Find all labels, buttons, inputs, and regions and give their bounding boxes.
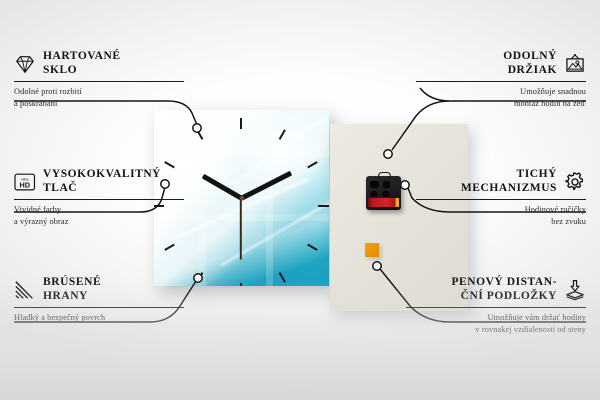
feature-glass-title-1: HARTOVANÉ <box>43 50 121 64</box>
feature-foam-title-1: PENOVÝ DISTAN- <box>451 276 557 290</box>
foam-spacer-icon <box>564 279 586 301</box>
feature-foam-desc-1: Umožňuje vám držať hodiny <box>406 312 586 324</box>
product-infographic: HARTOVANÉ SKLO Odolné proti rozbití a po… <box>0 0 600 400</box>
feature-edges-desc-1: Hladký a bezpečný povrch <box>14 312 184 324</box>
diamond-icon <box>14 53 36 75</box>
feature-holder-desc-2: montáž hodin na zeď <box>416 98 586 110</box>
feature-edges-title-2: HRANY <box>43 290 101 304</box>
feature-foam-divider <box>406 307 586 308</box>
feature-holder-desc: Umožňuje snadnou montáž hodin na zeď <box>416 86 586 110</box>
foam-spacer-pad <box>365 243 379 257</box>
clock-second-hand <box>240 198 242 260</box>
feature-print-title-1: VYSOKOKVALITNÝ <box>43 168 161 182</box>
feature-holder-desc-1: Umožňuje snadnou <box>416 86 586 98</box>
feature-glass-title-2: SKLO <box>43 64 121 78</box>
clock-tick <box>240 118 242 129</box>
hanging-picture-icon <box>564 53 586 75</box>
feature-edges-divider <box>14 307 184 308</box>
feature-mechanism-desc-1: Hodinové ručičky <box>416 204 586 216</box>
feature-holder-head: ODOLNÝ DRŽIAK <box>416 50 586 77</box>
clock-center-pin <box>240 196 244 200</box>
feature-holder-divider <box>416 81 586 82</box>
hanging-hook <box>378 172 391 179</box>
feature-glass: HARTOVANÉ SKLO Odolné proti rozbití a po… <box>14 50 184 110</box>
feature-print-desc: Vividné farby a výrazný obraz <box>14 204 184 228</box>
feature-print-divider <box>14 199 184 200</box>
feature-edges-head: BRÚSENÉ HRANY <box>14 276 184 303</box>
ultra-hd-icon: ultra HD <box>14 171 36 193</box>
feature-print-desc-2: a výrazný obraz <box>14 216 184 228</box>
feature-foam-head: PENOVÝ DISTAN- ČNÍ PODLOŽKY <box>406 276 586 303</box>
feature-foam-desc: Umožňuje vám držať hodiny v rovnakej vzd… <box>406 312 586 336</box>
feature-holder: ODOLNÝ DRŽIAK Umožňuje snadnou montáž ho… <box>416 50 586 110</box>
aa-battery <box>368 198 399 207</box>
feature-glass-desc-2: a poškrábání <box>14 98 184 110</box>
gear-icon <box>564 171 586 193</box>
feature-mechanism-desc-2: bez zvuku <box>416 216 586 228</box>
feature-mechanism-desc: Hodinové ručičky bez zvuku <box>416 204 586 228</box>
feature-mechanism-title-2: MECHANIZMUS <box>461 182 557 196</box>
clock-tick <box>240 283 242 286</box>
feature-print: ultra HD VYSOKOKVALITNÝ TLAČ Vividné far… <box>14 168 184 228</box>
feature-print-desc-1: Vividné farby <box>14 204 184 216</box>
feature-mechanism-title-1: TICHÝ <box>517 168 557 182</box>
feature-mechanism-head: TICHÝ MECHANIZMUS <box>416 168 586 195</box>
feature-foam-title-2: ČNÍ PODLOŽKY <box>461 290 557 304</box>
feature-mechanism-divider <box>416 199 586 200</box>
svg-text:HD: HD <box>19 180 29 189</box>
feature-holder-title-1: ODOLNÝ <box>503 50 557 64</box>
feature-glass-desc: Odolné proti rozbití a poškrábání <box>14 86 184 110</box>
feature-print-head: ultra HD VYSOKOKVALITNÝ TLAČ <box>14 168 184 195</box>
feature-glass-divider <box>14 81 184 82</box>
feature-edges-desc: Hladký a bezpečný povrch <box>14 312 184 324</box>
feature-edges-title-1: BRÚSENÉ <box>43 276 101 290</box>
feature-print-title-2: TLAČ <box>43 182 161 196</box>
hatched-edge-icon <box>14 279 36 301</box>
feature-holder-title-2: DRŽIAK <box>508 64 557 78</box>
clock-tick <box>318 205 329 207</box>
feature-mechanism: TICHÝ MECHANIZMUS Hodinové ručičky bez z… <box>416 168 586 228</box>
feature-glass-head: HARTOVANÉ SKLO <box>14 50 184 77</box>
feature-foam: PENOVÝ DISTAN- ČNÍ PODLOŽKY Umožňuje vám… <box>406 276 586 336</box>
feature-glass-desc-1: Odolné proti rozbití <box>14 86 184 98</box>
feature-edges: BRÚSENÉ HRANY Hladký a bezpečný povrch <box>14 276 184 324</box>
feature-foam-desc-2: v rovnakej vzdialenosti od steny <box>406 324 586 336</box>
quartz-mechanism <box>366 176 401 210</box>
